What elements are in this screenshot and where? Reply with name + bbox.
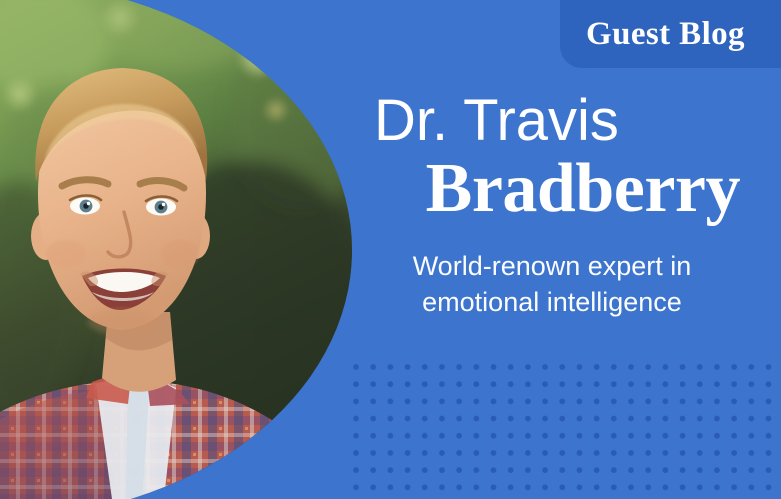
speaker-text-block: Dr. Travis Bradberry World-renown expert… [360, 92, 760, 321]
tagline-line-2: emotional intelligence [360, 284, 744, 320]
guest-blog-banner-card: Guest Blog Dr. Travis Bradberry World-re… [0, 0, 781, 499]
guest-blog-ribbon: Guest Blog [560, 0, 781, 68]
speaker-tagline: World-renown expert in emotional intelli… [360, 248, 760, 320]
portrait-illustration [0, 0, 352, 499]
guest-blog-label: Guest Blog [586, 18, 755, 51]
tagline-line-1: World-renown expert in [360, 248, 744, 284]
dot-grid-decoration [345, 356, 781, 499]
speaker-last-name: Bradberry [360, 152, 760, 226]
speaker-first-name: Dr. Travis [374, 92, 760, 150]
portrait-photo [0, 0, 352, 499]
